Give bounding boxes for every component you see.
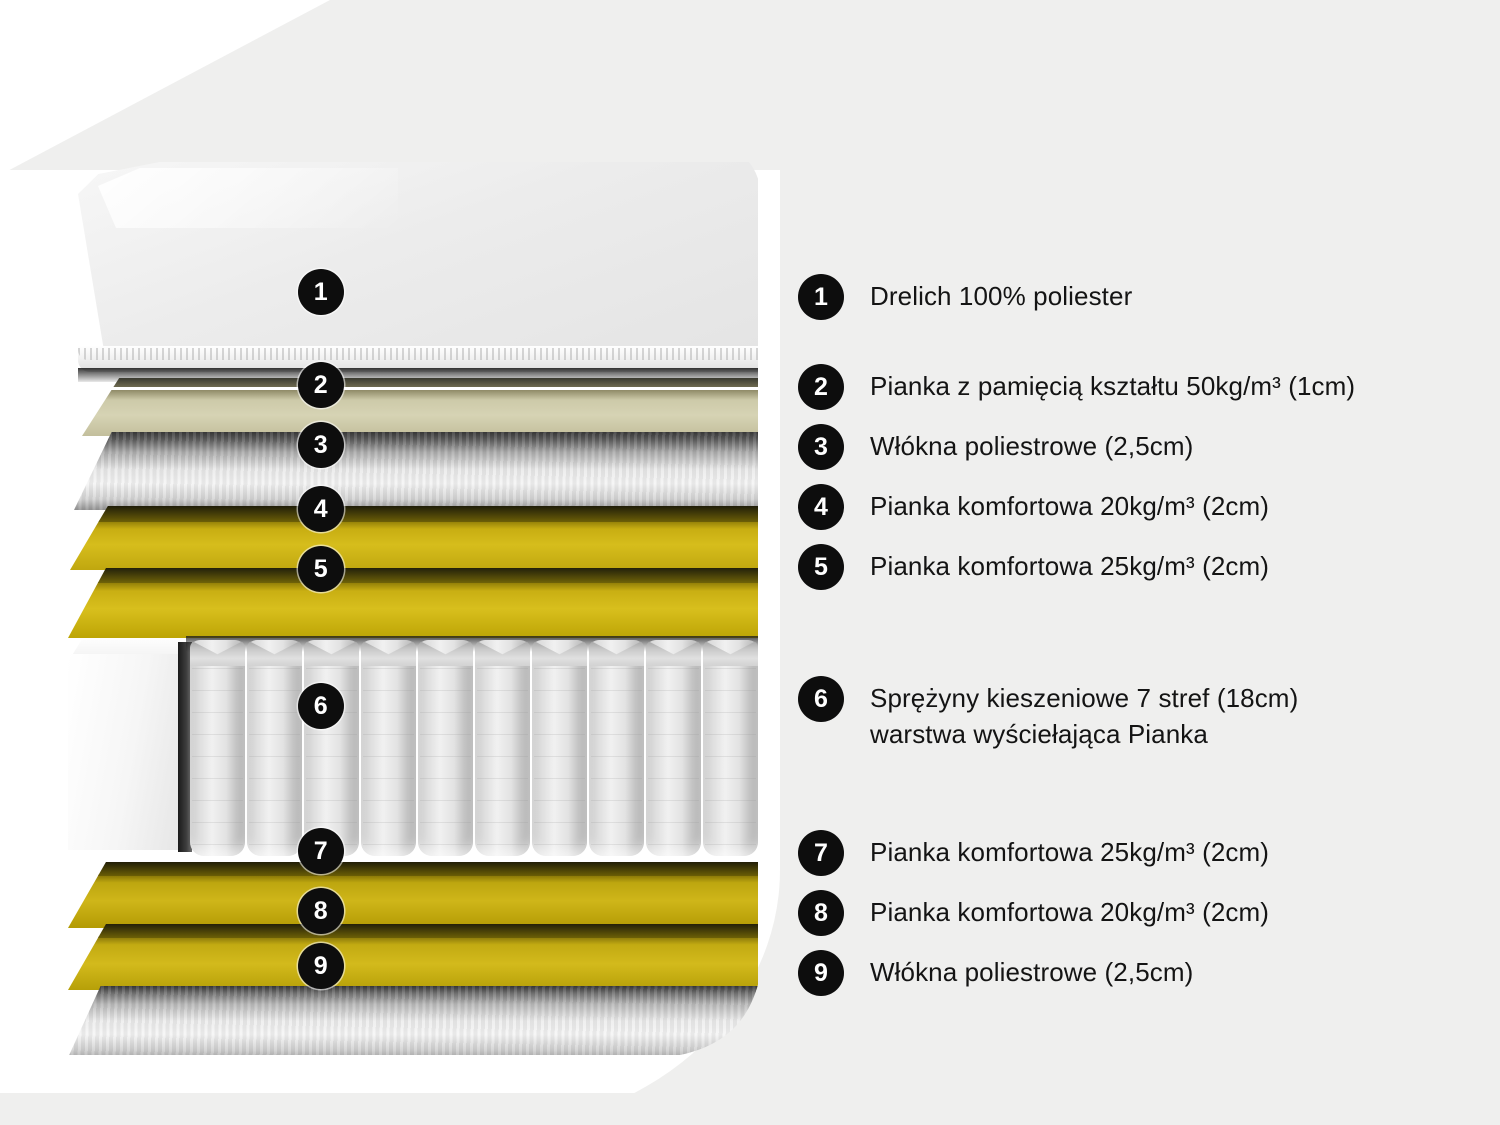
- diagram-badge-9[interactable]: 9: [298, 943, 344, 989]
- legend-item-5[interactable]: 5 Pianka komfortowa 25kg/m³ (2cm): [798, 544, 1269, 590]
- diagram-badge-3[interactable]: 3: [298, 422, 344, 468]
- legend-item-1[interactable]: 1 Drelich 100% poliester: [798, 274, 1132, 320]
- layer-cover-top-face: [78, 158, 758, 358]
- legend-item-4[interactable]: 4 Pianka komfortowa 20kg/m³ (2cm): [798, 484, 1269, 530]
- legend-label-4: Pianka komfortowa 20kg/m³ (2cm): [870, 484, 1269, 524]
- layer-comfort-foam-20-bottom: [68, 924, 758, 990]
- legend-badge-5: 5: [798, 544, 844, 590]
- layer-comfort-foam-25-bottom: [68, 862, 758, 928]
- cover-stitching: [78, 348, 758, 360]
- legend-label-3: Włókna poliestrowe (2,5cm): [870, 424, 1193, 464]
- pocket-spring: [646, 640, 701, 856]
- legend-item-8[interactable]: 8 Pianka komfortowa 20kg/m³ (2cm): [798, 890, 1269, 936]
- pocket-spring: [247, 640, 302, 856]
- legend-item-9[interactable]: 9 Włókna poliestrowe (2,5cm): [798, 950, 1193, 996]
- pocket-spring: [532, 640, 587, 856]
- legend-badge-7: 7: [798, 830, 844, 876]
- pocket-spring-row: [190, 640, 758, 856]
- pocket-spring: [475, 640, 530, 856]
- legend-item-3[interactable]: 3 Włókna poliestrowe (2,5cm): [798, 424, 1193, 470]
- layer-polyester-fibre-bottom: [66, 986, 758, 1062]
- diagram-badge-2[interactable]: 2: [298, 362, 344, 408]
- pocket-spring: [190, 640, 245, 856]
- pocket-spring: [703, 640, 758, 856]
- diagram-badge-1[interactable]: 1: [298, 269, 344, 315]
- layer-comfort-foam-20-top: [70, 506, 758, 570]
- background-grey-bottom-strip: [0, 1093, 1500, 1125]
- legend-badge-1: 1: [798, 274, 844, 320]
- layer-pocket-springs: [68, 636, 758, 868]
- legend-label-8: Pianka komfortowa 20kg/m³ (2cm): [870, 890, 1269, 930]
- mattress-cutaway-image: [60, 150, 780, 1055]
- legend-badge-4: 4: [798, 484, 844, 530]
- layer-comfort-foam-25-top: [68, 568, 758, 638]
- diagram-badge-6[interactable]: 6: [298, 683, 344, 729]
- pocket-spring: [304, 640, 359, 856]
- legend-badge-2: 2: [798, 364, 844, 410]
- diagram-badge-8[interactable]: 8: [298, 888, 344, 934]
- pocket-spring: [418, 640, 473, 856]
- legend-badge-6: 6: [798, 676, 844, 722]
- cover-highlight: [98, 168, 398, 228]
- pocket-spring: [589, 640, 644, 856]
- legend-item-6[interactable]: 6 Sprężyny kieszeniowe 7 stref (18cm) wa…: [798, 676, 1298, 752]
- background-white-diagonal: [0, 0, 330, 175]
- legend-badge-3: 3: [798, 424, 844, 470]
- spring-edge-block: [68, 654, 180, 850]
- legend-label-1: Drelich 100% poliester: [870, 274, 1132, 314]
- pocket-spring: [361, 640, 416, 856]
- legend-badge-8: 8: [798, 890, 844, 936]
- legend-label-6: Sprężyny kieszeniowe 7 stref (18cm) wars…: [870, 676, 1298, 752]
- layer-polyester-fibre-top: [74, 432, 758, 510]
- legend-label-2: Pianka z pamięcią kształtu 50kg/m³ (1cm): [870, 364, 1355, 404]
- layer-memory-foam: [82, 378, 758, 436]
- diagram-badge-5[interactable]: 5: [298, 546, 344, 592]
- legend-label-9: Włókna poliestrowe (2,5cm): [870, 950, 1193, 990]
- mattress-layers-infographic: 1 2 3 4 5 6 7 8 9 1 Drelich 100% poliest…: [0, 0, 1500, 1125]
- legend-label-5: Pianka komfortowa 25kg/m³ (2cm): [870, 544, 1269, 584]
- legend-label-7: Pianka komfortowa 25kg/m³ (2cm): [870, 830, 1269, 870]
- legend-badge-9: 9: [798, 950, 844, 996]
- diagram-badge-4[interactable]: 4: [298, 486, 344, 532]
- diagram-badge-7[interactable]: 7: [298, 828, 344, 874]
- legend-item-7[interactable]: 7 Pianka komfortowa 25kg/m³ (2cm): [798, 830, 1269, 876]
- legend-item-2[interactable]: 2 Pianka z pamięcią kształtu 50kg/m³ (1c…: [798, 364, 1355, 410]
